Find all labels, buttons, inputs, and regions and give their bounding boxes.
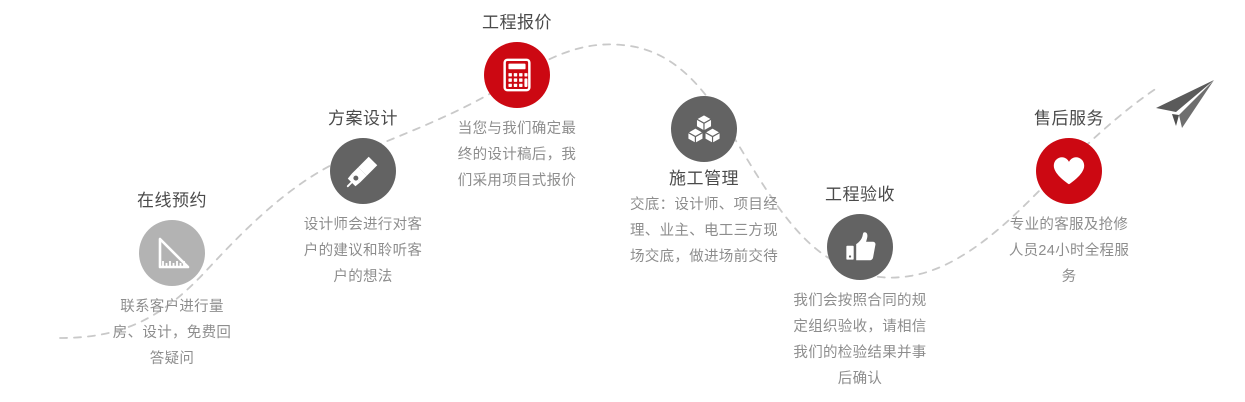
ruler-triangle-icon: [152, 233, 192, 273]
heart-icon: [1050, 152, 1088, 190]
step-after-sales-service[interactable]: 售后服务 专业的客服及抢修 人员24小时全程服 务: [974, 108, 1164, 290]
step-icon-circle[interactable]: [330, 138, 396, 204]
step-icon-circle[interactable]: [139, 220, 205, 286]
end-marker: [1146, 78, 1218, 139]
step-description: 当您与我们确定最 终的设计稿后，我 们采用项目式报价: [437, 116, 597, 194]
thumbs-up-icon: [841, 228, 879, 266]
step-title: 工程报价: [422, 12, 612, 34]
paper-plane-icon: [1146, 78, 1218, 134]
step-icon-circle[interactable]: [827, 214, 893, 280]
step-icon-circle[interactable]: [671, 96, 737, 162]
calculator-icon: [498, 56, 536, 94]
step-online-booking[interactable]: 在线预约 联系客户进行量 房、设计，免费回 答疑问: [77, 190, 267, 372]
step-description: 我们会按照合同的规 定组织验收，请相信 我们的检验结果并事 后确认: [780, 288, 940, 392]
step-title: 工程验收: [765, 184, 955, 206]
step-project-acceptance[interactable]: 工程验收 我们会按照合同的规 定组织验收，请相信 我们的检验结果并事 后确认: [765, 184, 955, 392]
process-flow-diagram: 在线预约 联系客户进行量 房、设计，免费回 答疑问 方案设计: [0, 0, 1245, 402]
step-icon-circle[interactable]: [484, 42, 550, 108]
step-icon-circle[interactable]: [1036, 138, 1102, 204]
step-description: 专业的客服及抢修 人员24小时全程服 务: [989, 212, 1149, 290]
step-title: 售后服务: [974, 108, 1164, 130]
step-project-quotation[interactable]: 工程报价 当您与: [422, 12, 612, 194]
fountain-pen-icon: [344, 152, 382, 190]
step-description: 联系客户进行量 房、设计，免费回 答疑问: [92, 294, 252, 372]
stacked-boxes-icon: [685, 110, 723, 148]
step-description: 设计师会进行对客 户的建议和聆听客 户的想法: [279, 212, 447, 290]
step-title: 在线预约: [77, 190, 267, 212]
